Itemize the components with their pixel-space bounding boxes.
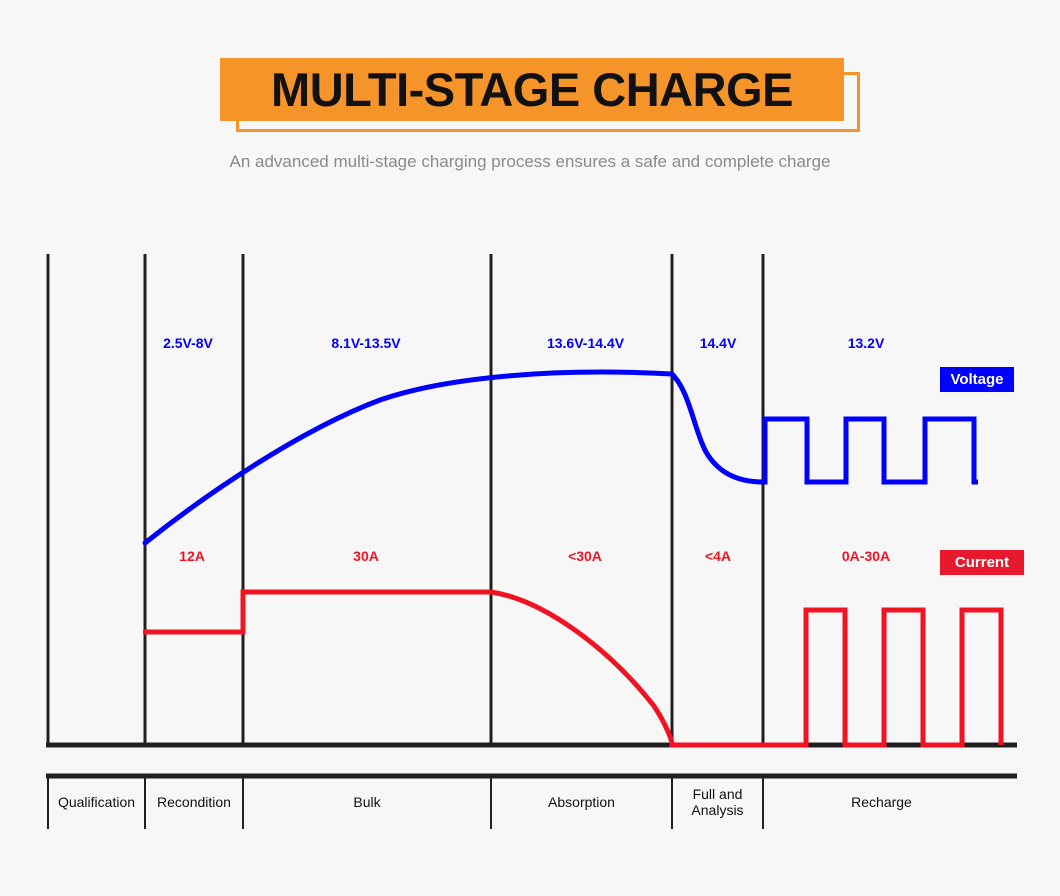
- infographic-root: MULTI-STAGE CHARGE An advanced multi-sta…: [0, 0, 1060, 896]
- voltage-value-absorption: 13.6V-14.4V: [518, 335, 653, 351]
- current-value-qualification: 12A: [152, 548, 232, 564]
- stage-label-qualification: Qualification: [48, 778, 145, 828]
- voltage-decay-curve: [672, 374, 763, 482]
- chart-svg: [0, 0, 1060, 896]
- voltage-value-qualification: 2.5V-8V: [138, 335, 238, 351]
- current-value-recharge: 0A-30A: [820, 548, 912, 564]
- voltage-value-full-analysis: 14.4V: [678, 335, 758, 351]
- current-value-full-analysis: <4A: [680, 548, 756, 564]
- voltage-value-recondition-bulk: 8.1V-13.5V: [306, 335, 426, 351]
- stage-label-bulk: Bulk: [243, 778, 491, 828]
- stage-label-recharge: Recharge: [763, 778, 1000, 828]
- stage-label-recondition: Recondition: [145, 778, 243, 828]
- voltage-rise-curve: [145, 372, 672, 543]
- current-value-bulk: 30A: [326, 548, 406, 564]
- current-step-segment: [143, 592, 491, 632]
- current-pulse-train: [672, 610, 1001, 745]
- current-decay-curve: [491, 592, 672, 742]
- stage-dividers: [48, 254, 763, 747]
- legend-voltage-badge: Voltage: [940, 367, 1014, 392]
- legend-current-badge: Current: [940, 550, 1024, 575]
- multi-stage-charge-chart: 2.5V-8V 8.1V-13.5V 13.6V-14.4V 14.4V 13.…: [0, 0, 1060, 896]
- current-value-absorption: <30A: [545, 548, 625, 564]
- voltage-pulse-train: [763, 419, 978, 482]
- voltage-value-recharge: 13.2V: [826, 335, 906, 351]
- stage-label-absorption: Absorption: [491, 778, 672, 828]
- stage-label-full-and-analysis: Full and Analysis: [672, 778, 763, 828]
